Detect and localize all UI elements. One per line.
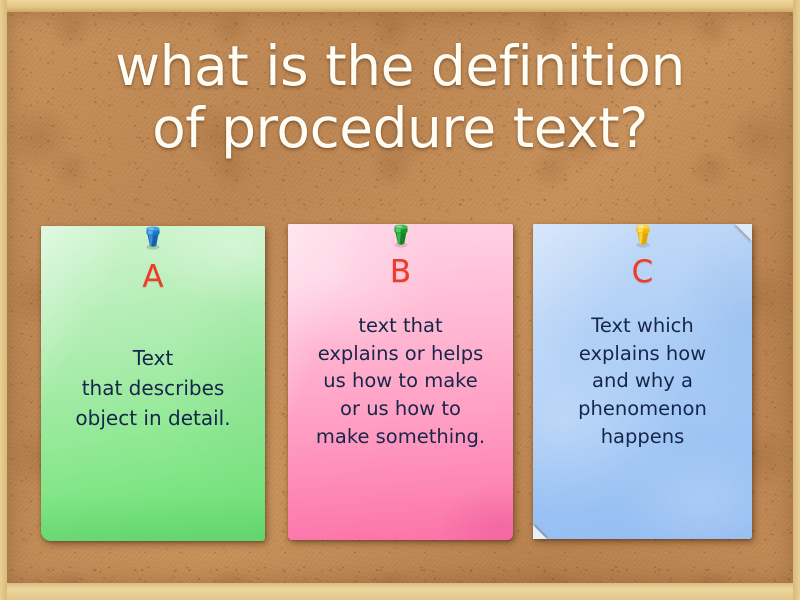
answer-b-line-2: explains or helps (296, 340, 505, 368)
answer-b-line-1: text that (296, 312, 505, 340)
answer-card-b-inner: B text that explains or helps us how to … (288, 224, 513, 540)
question-line-2: of procedure text? (40, 98, 760, 160)
blue-pushpin-icon (138, 226, 168, 254)
answer-text-c: Text which explains how and why a phenom… (541, 312, 744, 450)
answer-b-line-4: or us how to (296, 395, 505, 423)
answer-a-line-3: object in detail. (49, 403, 257, 433)
frame-bottom-edge (0, 583, 800, 600)
answer-c-line-1: Text which (541, 312, 744, 340)
answer-text-b: text that explains or helps us how to ma… (296, 312, 505, 450)
answer-a-line-2: that describes (49, 373, 257, 403)
answer-letter-a: A (41, 259, 265, 295)
paper-fold-top-right (735, 224, 752, 241)
answer-c-line-2: explains how (541, 340, 744, 368)
answer-card-b[interactable]: B text that explains or helps us how to … (288, 224, 513, 540)
paper-fold-bottom-left (533, 525, 547, 539)
answer-letter-c: C (533, 254, 752, 290)
answer-card-c-inner: C Text which explains how and why a phen… (533, 224, 752, 539)
question-line-1: what is the definition (40, 36, 760, 98)
answer-b-line-5: make something. (296, 423, 505, 451)
yellow-pushpin-icon (628, 224, 658, 252)
green-pushpin-icon (386, 224, 416, 252)
frame-right-edge (793, 0, 800, 600)
answer-c-line-4: phenomenon (541, 395, 744, 423)
frame-left-edge (0, 0, 7, 600)
answer-card-c[interactable]: C Text which explains how and why a phen… (533, 224, 752, 539)
answer-card-a-inner: A Text that describes object in detail. (41, 226, 265, 541)
answer-c-line-3: and why a (541, 367, 744, 395)
question-title: what is the definition of procedure text… (40, 36, 760, 159)
answer-letter-b: B (288, 254, 513, 290)
answer-b-line-3: us how to make (296, 367, 505, 395)
quiz-board: what is the definition of procedure text… (0, 0, 800, 600)
answer-c-line-5: happens (541, 423, 744, 451)
answer-a-line-1: Text (49, 343, 257, 373)
answer-text-a: Text that describes object in detail. (49, 343, 257, 433)
answer-card-a[interactable]: A Text that describes object in detail. (41, 226, 265, 541)
frame-top-edge (0, 0, 800, 12)
